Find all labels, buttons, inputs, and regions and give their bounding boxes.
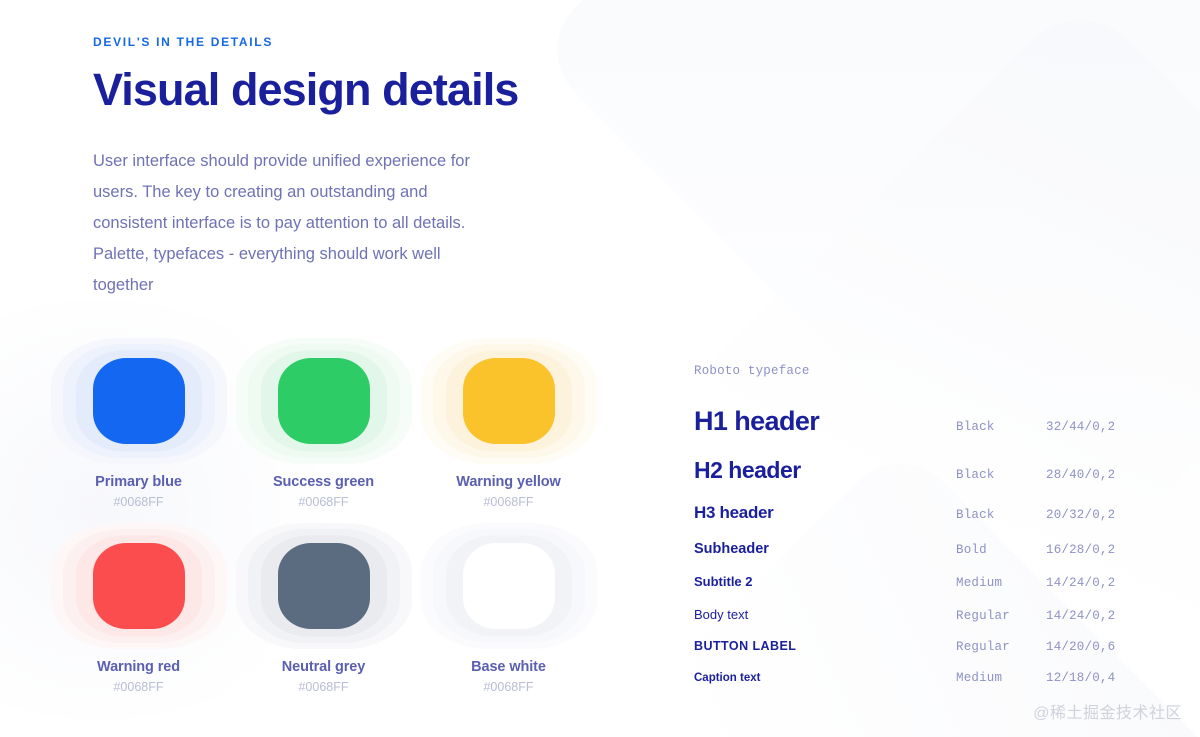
swatch-halo <box>49 338 229 464</box>
typography-row: SubheaderBold16/28/0,2 <box>694 541 1164 557</box>
color-swatch[interactable]: Warning yellow#0068FF <box>416 338 601 523</box>
type-sample-text: Subtitle 2 <box>694 574 956 589</box>
type-sample-text: Subheader <box>694 541 956 557</box>
type-spec-label: 28/40/0,2 <box>1046 468 1164 482</box>
typography-row: H3 headerBlack20/32/0,2 <box>694 503 1164 523</box>
swatch-halo <box>419 338 599 464</box>
swatch-core[interactable] <box>93 543 185 629</box>
type-sample-text: H3 header <box>694 503 956 523</box>
typeface-label: Roboto typeface <box>694 362 1164 380</box>
typography-row: Body textRegular14/24/0,2 <box>694 607 1164 623</box>
swatch-hex-label: #0068FF <box>113 678 163 696</box>
swatch-name: Primary blue <box>95 472 182 492</box>
swatch-name: Neutral grey <box>282 657 365 677</box>
typography-rows: H1 headerBlack32/44/0,2H2 headerBlack28/… <box>694 406 1164 685</box>
swatch-hex-label: #0068FF <box>298 678 348 696</box>
swatch-name: Success green <box>273 472 374 492</box>
swatch-hex-label: #0068FF <box>298 493 348 511</box>
typography-row: Caption textMedium12/18/0,4 <box>694 671 1164 685</box>
type-weight-label: Black <box>956 468 1046 482</box>
type-spec-label: 14/24/0,2 <box>1046 609 1164 623</box>
color-swatch[interactable]: Base white#0068FF <box>416 523 601 708</box>
type-weight-label: Medium <box>956 576 1046 590</box>
swatch-hex-label: #0068FF <box>483 678 533 696</box>
type-sample-text: BUTTON LABEL <box>694 639 956 653</box>
swatch-hex-label: #0068FF <box>483 493 533 511</box>
eyebrow-label: DEVIL'S IN THE DETAILS <box>93 34 613 50</box>
watermark: @稀土掘金技术社区 <box>1033 699 1182 723</box>
swatch-halo <box>49 523 229 649</box>
typography-row: BUTTON LABELRegular14/20/0,6 <box>694 639 1164 654</box>
color-swatch[interactable]: Primary blue#0068FF <box>46 338 231 523</box>
color-swatch[interactable]: Neutral grey#0068FF <box>231 523 416 708</box>
type-weight-label: Medium <box>956 671 1046 685</box>
type-sample-text: H1 header <box>694 406 956 437</box>
type-spec-label: 16/28/0,2 <box>1046 543 1164 557</box>
swatch-halo <box>419 523 599 649</box>
swatch-name: Base white <box>471 657 546 677</box>
type-weight-label: Black <box>956 420 1046 434</box>
typography-row: Subtitle 2Medium14/24/0,2 <box>694 574 1164 590</box>
swatch-name: Warning yellow <box>456 472 560 492</box>
swatch-core[interactable] <box>463 543 555 629</box>
typography-specimen-table: Roboto typeface H1 headerBlack32/44/0,2H… <box>694 362 1164 685</box>
type-spec-label: 12/18/0,4 <box>1046 671 1164 685</box>
typography-row: H2 headerBlack28/40/0,2 <box>694 457 1164 484</box>
swatch-halo <box>234 523 414 649</box>
swatch-core[interactable] <box>93 358 185 444</box>
swatch-halo <box>234 338 414 464</box>
type-sample-text: Body text <box>694 607 956 622</box>
type-spec-label: 14/24/0,2 <box>1046 576 1164 590</box>
type-sample-text: Caption text <box>694 672 956 684</box>
type-spec-label: 14/20/0,6 <box>1046 640 1164 654</box>
swatch-name: Warning red <box>97 657 180 677</box>
page-title: Visual design details <box>93 64 613 116</box>
typography-row: H1 headerBlack32/44/0,2 <box>694 406 1164 437</box>
type-spec-label: 20/32/0,2 <box>1046 508 1164 522</box>
color-swatch[interactable]: Warning red#0068FF <box>46 523 231 708</box>
swatch-hex-label: #0068FF <box>113 493 163 511</box>
type-weight-label: Black <box>956 508 1046 522</box>
color-swatch[interactable]: Success green#0068FF <box>231 338 416 523</box>
intro-paragraph: User interface should provide unified ex… <box>93 146 493 301</box>
swatch-core[interactable] <box>278 543 370 629</box>
swatch-core[interactable] <box>463 358 555 444</box>
type-weight-label: Regular <box>956 609 1046 623</box>
color-palette-grid: Primary blue#0068FFSuccess green#0068FFW… <box>46 338 656 708</box>
type-weight-label: Regular <box>956 640 1046 654</box>
swatch-core[interactable] <box>278 358 370 444</box>
type-spec-label: 32/44/0,2 <box>1046 420 1164 434</box>
type-weight-label: Bold <box>956 543 1046 557</box>
type-sample-text: H2 header <box>694 457 956 484</box>
header-block: DEVIL'S IN THE DETAILS Visual design det… <box>93 34 613 318</box>
